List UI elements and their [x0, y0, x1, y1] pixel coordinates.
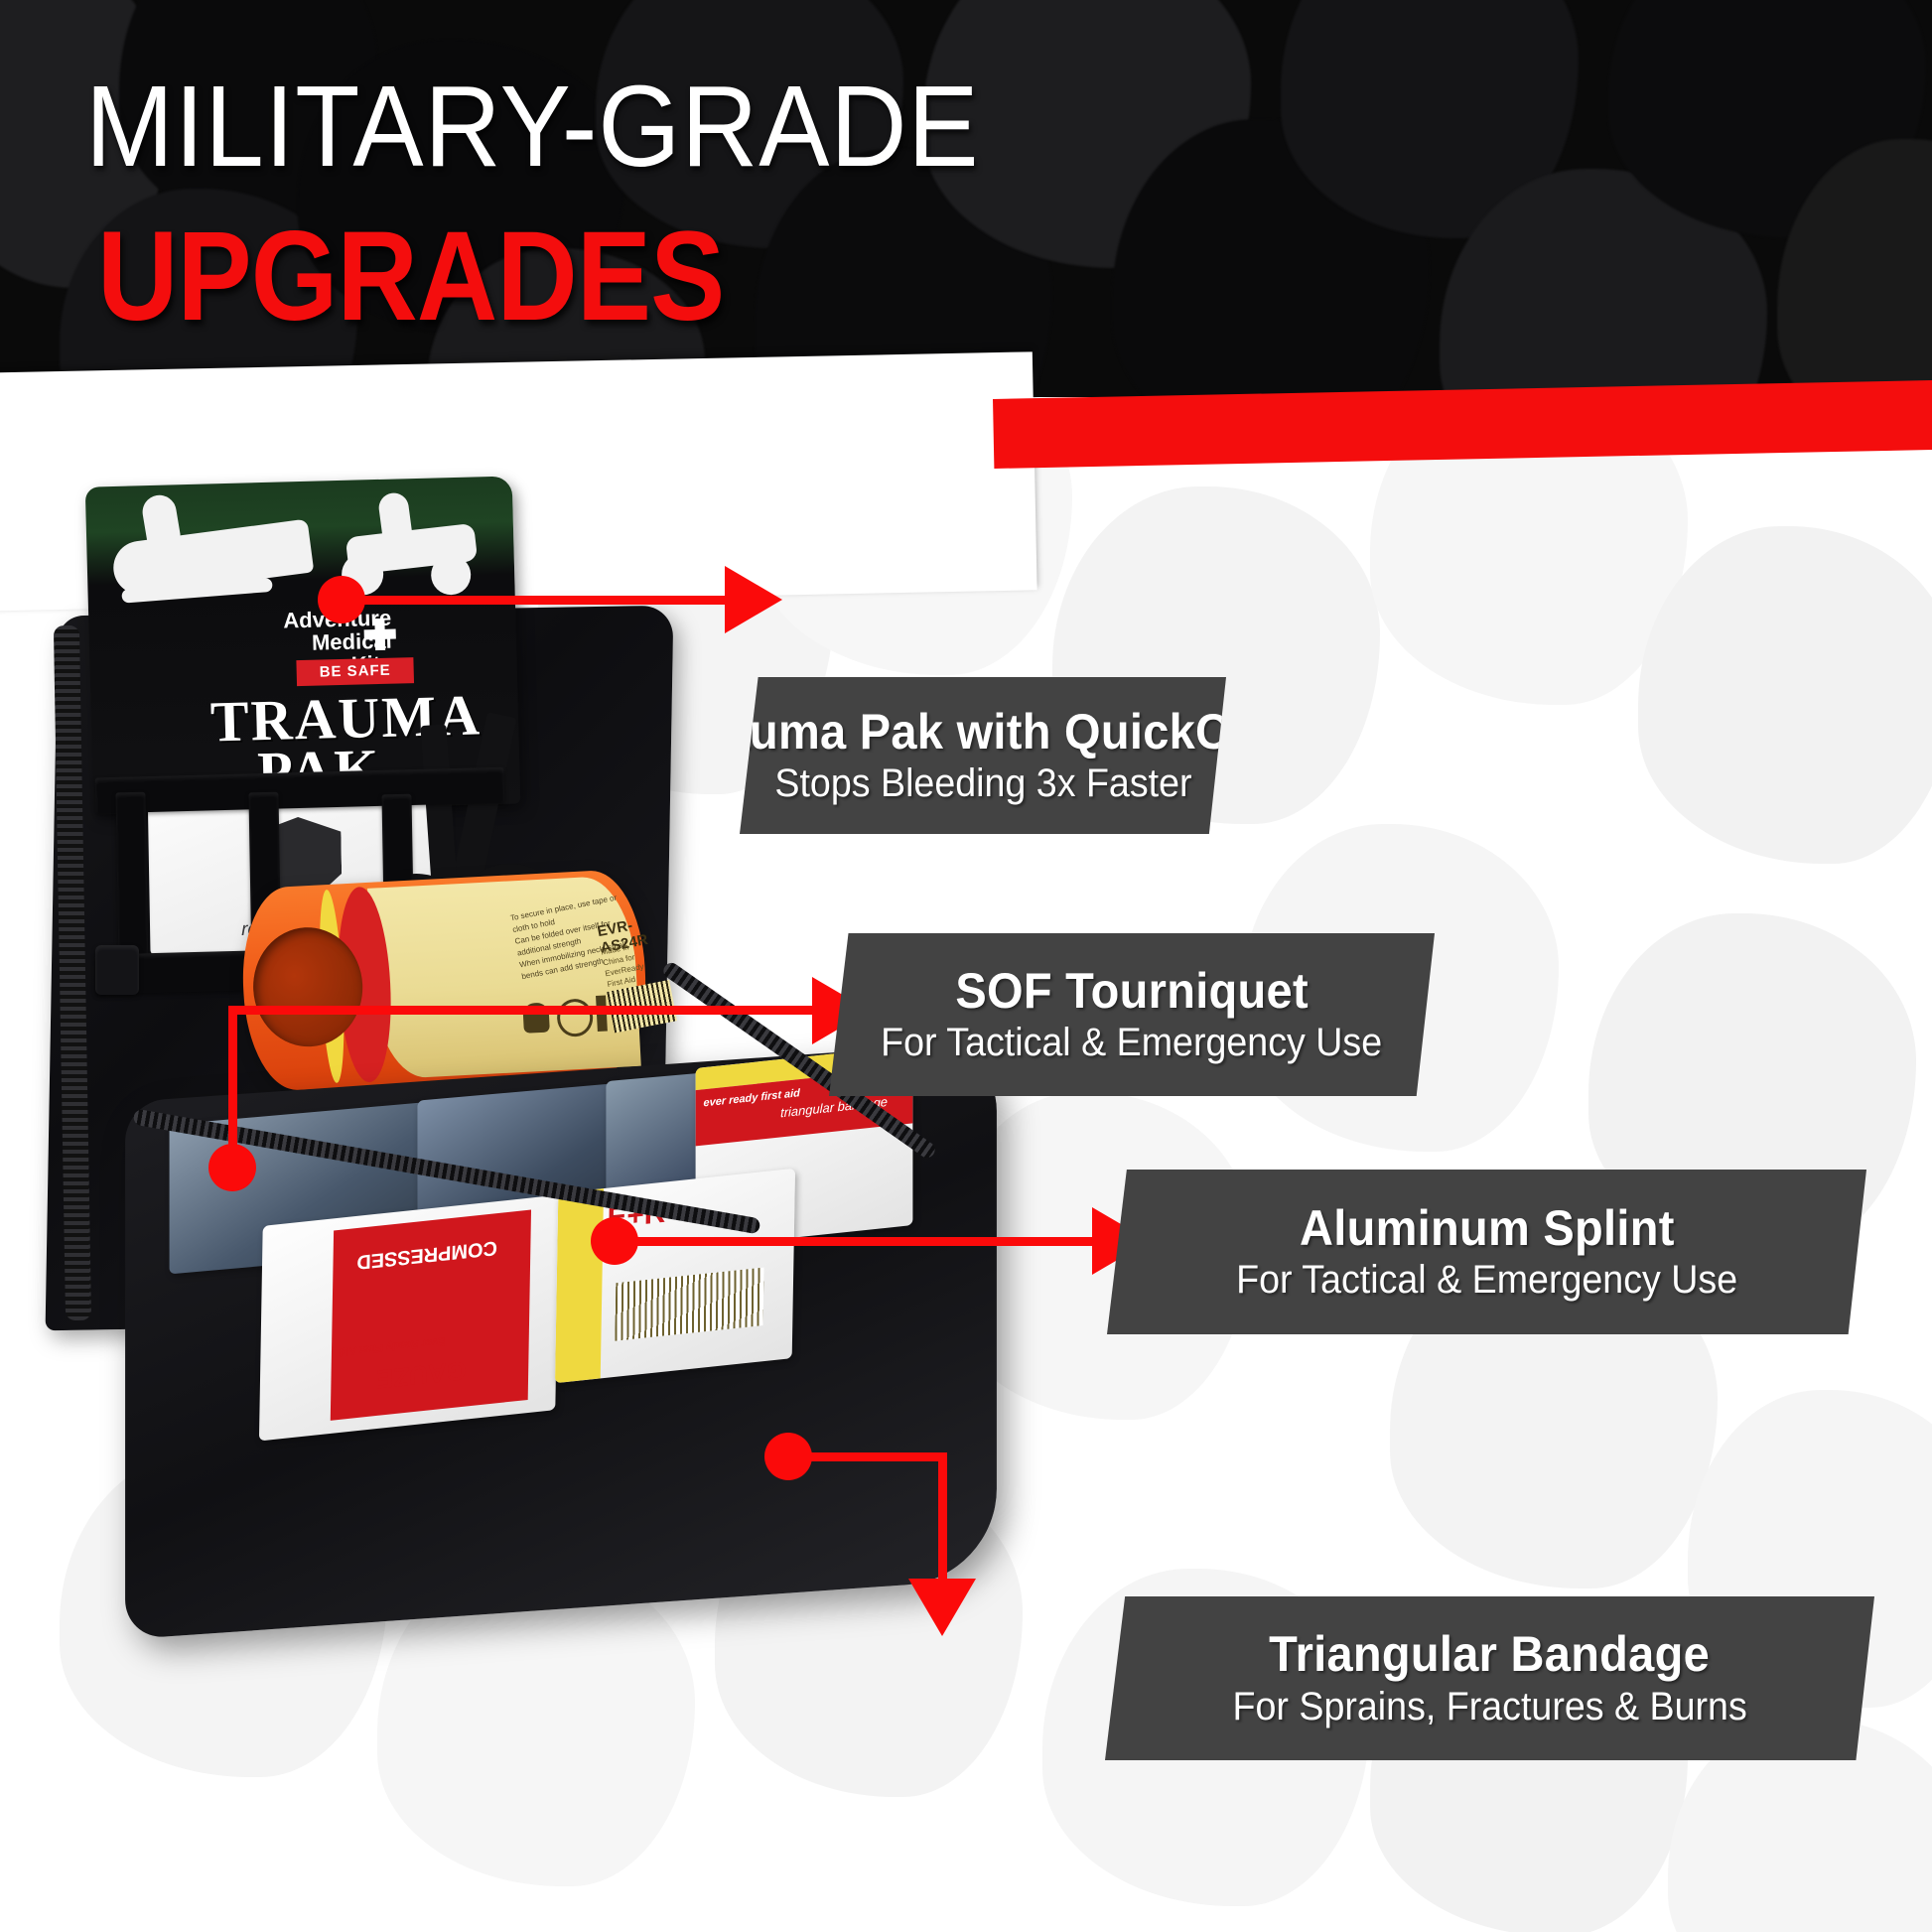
watermark-blob [1638, 526, 1932, 864]
aluminum-splint-roll: To secure in place, use tape or cloth to… [238, 869, 650, 1093]
splint-usage-icons [522, 993, 614, 1041]
splint-label: To secure in place, use tape or cloth to… [367, 875, 641, 1080]
callout-3-subtitle: For Tactical & Emergency Use [1236, 1258, 1737, 1302]
callout-3-line [615, 1237, 1111, 1246]
callout-1-arrow-icon [725, 566, 782, 633]
callout-4-arrow-icon [908, 1579, 976, 1636]
callout-trauma-pak[interactable]: Trauma Pak with QuickClot Stops Bleeding… [740, 677, 1226, 834]
callout-4-subtitle: For Sprains, Fractures & Burns [1232, 1685, 1746, 1728]
be-safe-badge: BE SAFE [296, 657, 414, 686]
atv-rider-figure [377, 491, 412, 539]
callout-2-subtitle: For Tactical & Emergency Use [881, 1021, 1382, 1064]
callout-1-subtitle: Stops Bleeding 3x Faster [774, 761, 1191, 805]
atv-wheel [431, 555, 472, 596]
medical-cross-icon [363, 619, 396, 651]
callout-2-line-horizontal [228, 1006, 824, 1015]
callout-4-title: Triangular Bandage [1270, 1628, 1711, 1681]
rider-figure [140, 492, 181, 543]
callout-4-line-horizontal [788, 1452, 947, 1461]
er-box-barcode [615, 1268, 763, 1341]
page-subtitle: UPGRADES [97, 204, 724, 349]
callout-1-title: Trauma Pak with QuickClot [679, 706, 1288, 759]
band-buckle [95, 945, 139, 995]
callout-aluminum-splint[interactable]: Aluminum Splint For Tactical & Emergency… [1107, 1170, 1866, 1334]
callout-1-line [342, 596, 739, 605]
infographic-page: MILITARY-GRADE UPGRADES [0, 0, 1932, 1932]
callout-3-title: Aluminum Splint [1300, 1202, 1675, 1255]
callout-2-title: SOF Tourniquet [955, 965, 1309, 1018]
callout-triangular-bandage[interactable]: Triangular Bandage For Sprains, Fracture… [1105, 1596, 1874, 1760]
compressed-gauze-box: COMPRESSED GAUZE Ever Ready First Aid [259, 1195, 559, 1442]
trauma-pak-package: Adventure Medical Kits BE SAFE TRAUMA PA… [85, 476, 520, 814]
callout-sof-tourniquet[interactable]: SOF Tourniquet For Tactical & Emergency … [829, 933, 1435, 1096]
page-title: MILITARY-GRADE [85, 60, 979, 193]
callout-2-line-vertical [228, 1006, 237, 1170]
